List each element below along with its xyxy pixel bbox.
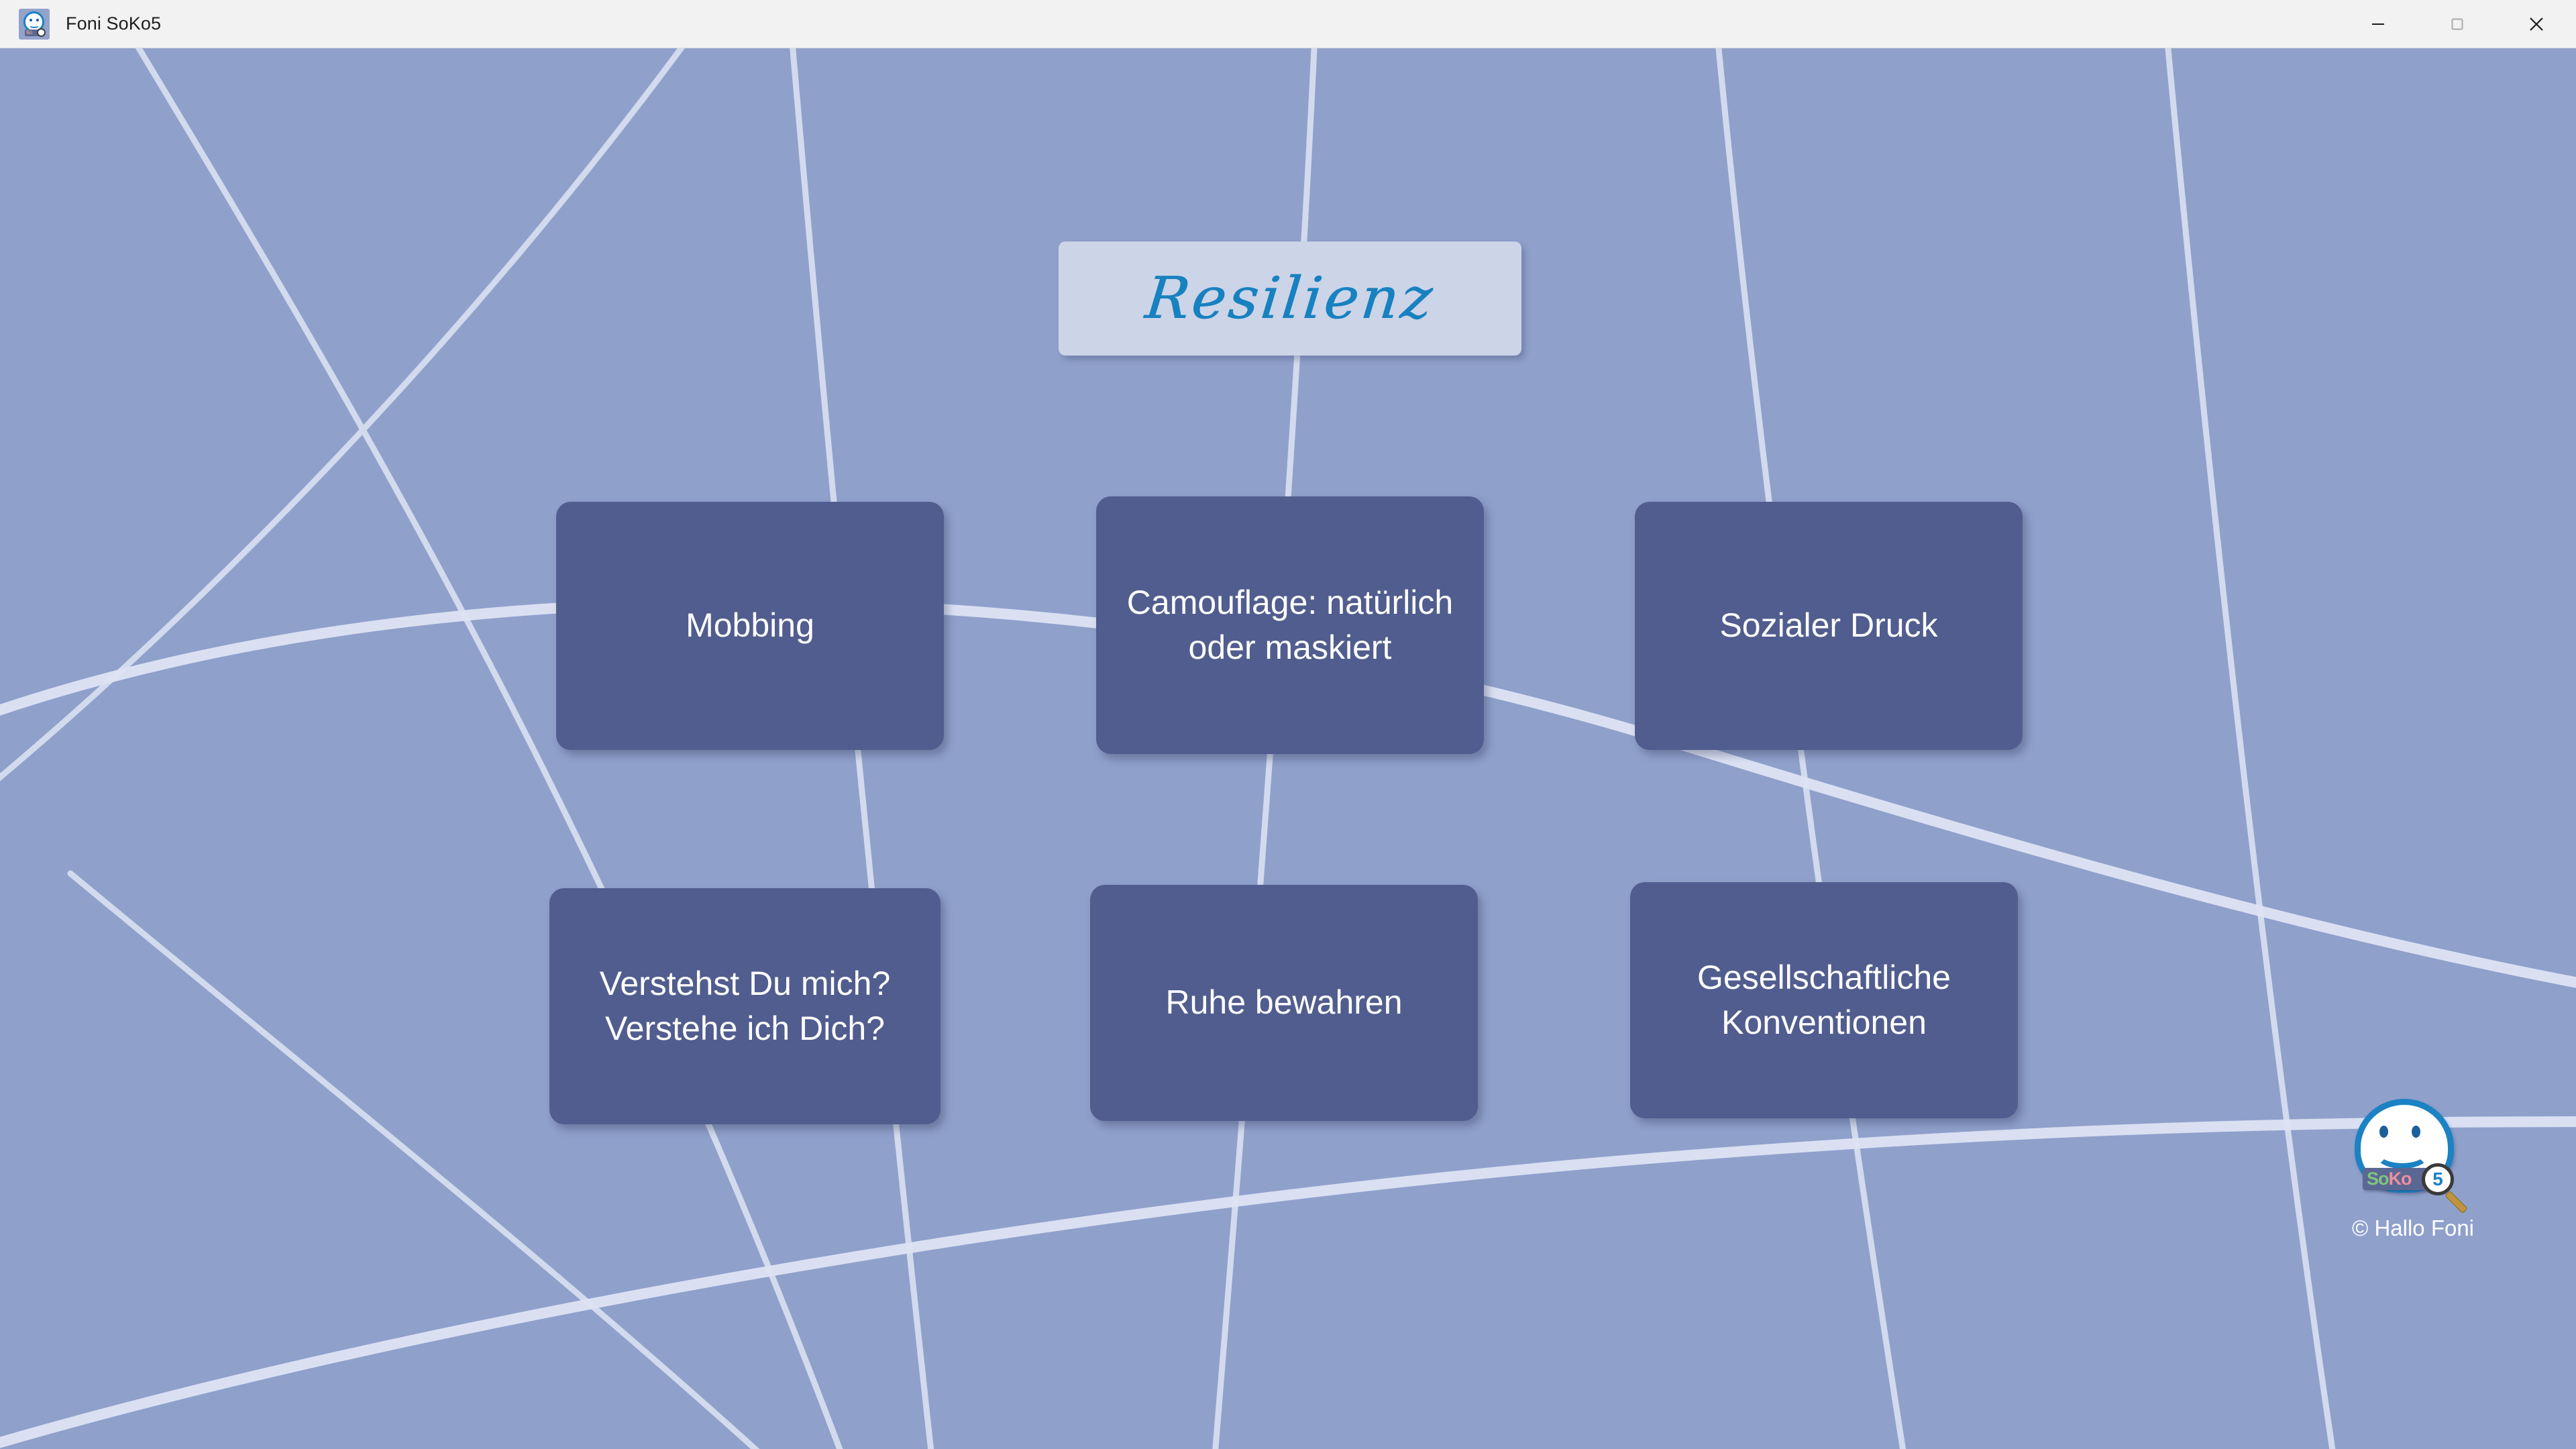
window-controls bbox=[2339, 0, 2576, 48]
smiley-eye-right bbox=[36, 19, 39, 22]
maximize-icon bbox=[2449, 15, 2466, 33]
soko-ko-text: Ko bbox=[26, 30, 32, 36]
magnifier-handle-icon bbox=[2445, 1191, 2468, 1214]
close-icon bbox=[2527, 15, 2546, 34]
minimize-button[interactable] bbox=[2339, 0, 2418, 48]
magnifier-lens-icon bbox=[37, 28, 46, 37]
close-button[interactable] bbox=[2497, 0, 2576, 48]
topic-tile-ruhe-bewahren[interactable]: Ruhe bewahren bbox=[1090, 885, 1478, 1121]
logo-eye-right bbox=[2412, 1126, 2420, 1138]
logo-eye-left bbox=[2379, 1126, 2388, 1138]
smiley-eye-left bbox=[30, 19, 32, 22]
window-titlebar: So Ko Foni SoKo5 bbox=[0, 0, 2576, 48]
window-title: Foni SoKo5 bbox=[66, 13, 161, 34]
copyright-text: © Hallo Foni bbox=[2329, 1216, 2497, 1241]
page-title: Resilienz bbox=[1142, 265, 1438, 332]
logo-so-text: So bbox=[2367, 1169, 2389, 1189]
topic-tile-sozialer-druck[interactable]: Sozialer Druck bbox=[1635, 502, 2023, 750]
logo-mouth bbox=[2375, 1139, 2430, 1169]
app-icon-foni-smiley: So Ko bbox=[19, 9, 50, 40]
topic-tile-verstehst-du-mich[interactable]: Verstehst Du mich? Verstehe ich Dich? bbox=[549, 888, 941, 1124]
page-title-card: Resilienz bbox=[1059, 241, 1521, 356]
soko5-logo-icon: SoKo 5 bbox=[2349, 1096, 2460, 1203]
app-stage: Resilienz Mobbing Camouflage: natürlich … bbox=[0, 48, 2576, 1449]
topic-tile-gesellschaftliche-konventionen[interactable]: Gesellschaftliche Konventionen bbox=[1630, 882, 2018, 1118]
topic-tile-camouflage[interactable]: Camouflage: natürlich oder maskiert bbox=[1096, 496, 1484, 754]
logo-ko-text: Ko bbox=[2389, 1169, 2412, 1189]
minimize-icon bbox=[2369, 15, 2387, 33]
magnifier-number-badge: 5 bbox=[2422, 1163, 2454, 1195]
topic-tile-mobbing[interactable]: Mobbing bbox=[556, 502, 944, 750]
footer-logo-block: SoKo 5 © Hallo Foni bbox=[2329, 1096, 2497, 1250]
maximize-button[interactable] bbox=[2418, 0, 2497, 48]
smiley-mouth bbox=[29, 22, 40, 28]
